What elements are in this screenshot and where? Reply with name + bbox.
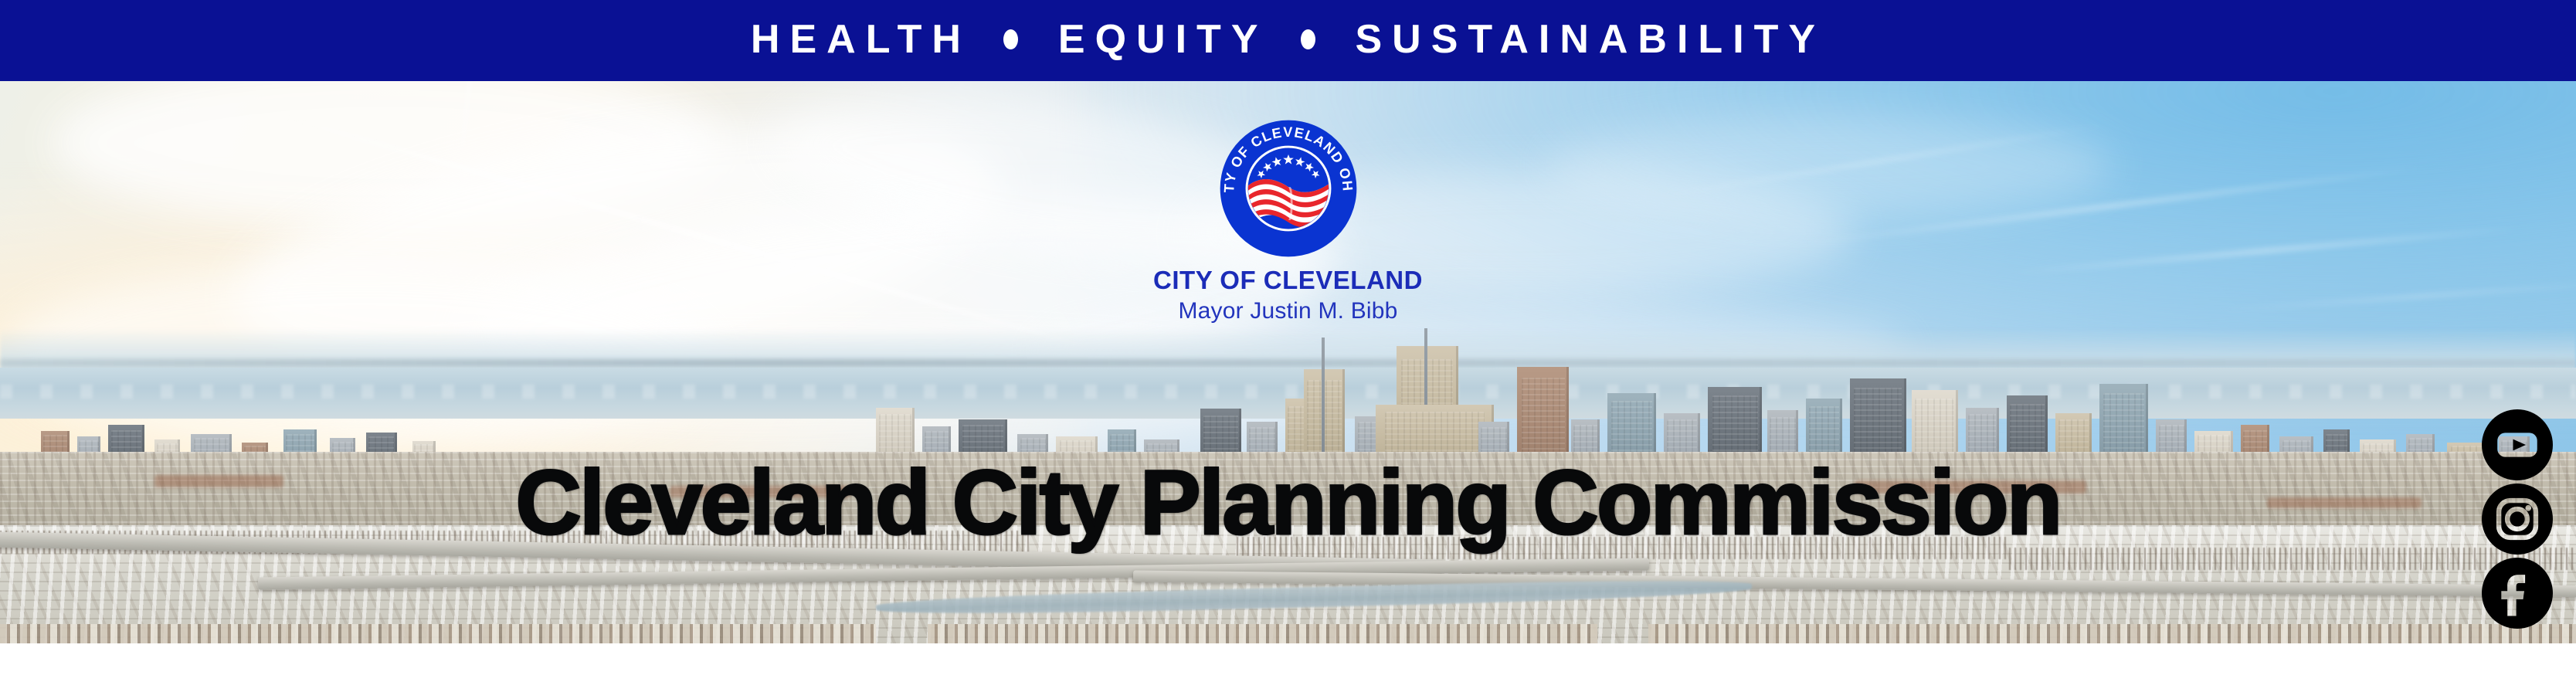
banner-word-sustainability: SUSTAINABILITY bbox=[1356, 19, 1826, 59]
banner-text-group: HEALTH EQUITY SUSTAINABILITY bbox=[751, 19, 1825, 59]
mayor-name: Mayor Justin M. Bibb bbox=[1178, 300, 1397, 323]
banner-separator-dot-1 bbox=[1003, 29, 1018, 49]
page-title: Cleveland City Planning Commission bbox=[0, 457, 2576, 548]
social-link-facebook[interactable] bbox=[2482, 558, 2553, 629]
seal-graphic: CITY OF CLEVELAND OHIO . bbox=[1217, 117, 1360, 260]
bottom-whitespace bbox=[0, 643, 2576, 682]
instagram-icon[interactable] bbox=[2482, 484, 2553, 555]
youtube-icon[interactable] bbox=[2482, 409, 2553, 480]
social-link-youtube[interactable] bbox=[2482, 409, 2553, 480]
svg-text:.: . bbox=[1356, 257, 1359, 260]
health-equity-sustainability-banner: HEALTH EQUITY SUSTAINABILITY bbox=[0, 0, 2576, 81]
house-row bbox=[928, 624, 1597, 643]
house-row bbox=[1648, 624, 2576, 643]
house-row bbox=[0, 624, 876, 643]
banner-word-equity: EQUITY bbox=[1058, 19, 1268, 59]
city-of-cleveland-seal: CITY OF CLEVELAND OHIO . bbox=[1217, 117, 1360, 260]
header-hero-page: HEALTH EQUITY SUSTAINABILITY bbox=[0, 0, 2576, 682]
facebook-icon[interactable] bbox=[2482, 558, 2553, 629]
social-links bbox=[2476, 409, 2558, 629]
banner-word-health: HEALTH bbox=[751, 19, 971, 59]
banner-separator-dot-2 bbox=[1301, 29, 1315, 49]
social-link-instagram[interactable] bbox=[2482, 484, 2553, 555]
org-name: CITY OF CLEVELAND bbox=[1153, 267, 1423, 293]
